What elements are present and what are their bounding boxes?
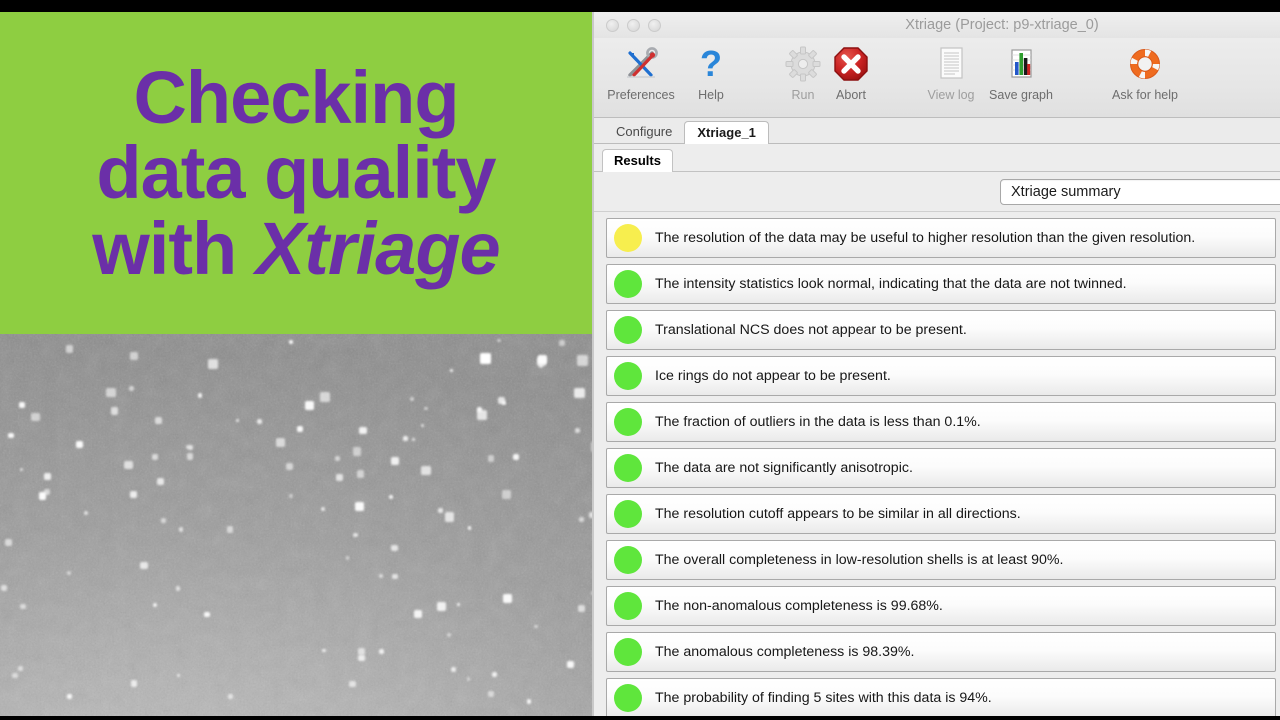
screenshot-stage: Checking data quality with Xtriage <box>0 0 1280 720</box>
result-row[interactable]: The non-anomalous completeness is 99.68%… <box>606 586 1276 626</box>
diffraction-spot <box>480 353 491 364</box>
letterbox-top <box>0 0 1280 12</box>
diffraction-spot <box>379 574 384 579</box>
diffraction-spot <box>392 574 398 580</box>
result-text: The intensity statistics look normal, in… <box>655 276 1127 292</box>
bar-chart-icon <box>1001 42 1041 86</box>
status-ok-icon <box>614 362 642 390</box>
result-text: The resolution cutoff appears to be simi… <box>655 506 1021 522</box>
results-list: The resolution of the data may be useful… <box>594 212 1280 720</box>
diffraction-spot <box>379 649 385 655</box>
sub-tabstrip: Results <box>594 144 1280 172</box>
diffraction-spot <box>336 474 343 481</box>
result-text: The non-anomalous completeness is 99.68%… <box>655 598 943 614</box>
diffraction-spot <box>67 694 72 699</box>
diffraction-spot <box>359 427 366 434</box>
diffraction-spot <box>488 455 495 462</box>
diffraction-spot <box>497 339 501 343</box>
diffraction-spot <box>76 441 83 448</box>
ask-for-help-label: Ask for help <box>1112 88 1178 102</box>
diffraction-spot <box>492 672 497 677</box>
diffraction-spot <box>391 457 399 465</box>
diffraction-spot <box>575 428 581 434</box>
abort-button[interactable]: Abort <box>812 42 890 102</box>
diffraction-spot <box>527 699 532 704</box>
window-titlebar: Xtriage (Project: p9-xtriage_0) <box>594 12 1280 38</box>
diffraction-spot <box>447 633 451 637</box>
diffraction-spot <box>467 677 470 680</box>
diffraction-spot <box>153 603 157 607</box>
title-line-1: Checking <box>133 60 458 135</box>
summary-select-value: Xtriage summary <box>1011 184 1121 200</box>
diffraction-spot <box>538 355 547 364</box>
diffraction-spot <box>131 680 138 687</box>
view-log-button[interactable]: View log <box>912 42 990 102</box>
tab-configure[interactable]: Configure <box>604 121 684 143</box>
question-mark-icon: ? <box>691 42 731 86</box>
diffraction-spot <box>457 603 460 606</box>
diffraction-spot <box>346 556 350 560</box>
summary-select[interactable]: Xtriage summary <box>1000 179 1280 205</box>
result-row[interactable]: The probability of finding 5 sites with … <box>606 678 1276 718</box>
diffraction-spot <box>5 539 12 546</box>
result-row[interactable]: The anomalous completeness is 98.39%. <box>606 632 1276 672</box>
save-graph-button[interactable]: Save graph <box>982 42 1060 102</box>
diffraction-spot <box>577 355 588 366</box>
diffraction-spot <box>18 666 23 671</box>
diffraction-spot <box>513 454 519 460</box>
diffraction-spot <box>19 402 25 408</box>
diffraction-spot <box>412 438 416 442</box>
save-graph-label: Save graph <box>989 88 1053 102</box>
diffraction-spot <box>320 392 330 402</box>
diffraction-spot <box>179 527 183 531</box>
diffraction-spot <box>578 605 585 612</box>
diffraction-spot <box>276 438 285 447</box>
diffraction-spot <box>321 507 325 511</box>
ask-for-help-button[interactable]: Ask for help <box>1106 42 1184 102</box>
diffraction-spot <box>129 386 134 391</box>
help-button[interactable]: ? Help <box>672 42 750 102</box>
svg-text:?: ? <box>700 44 722 84</box>
diffraction-spot <box>355 502 364 511</box>
result-text: The probability of finding 5 sites with … <box>655 690 992 706</box>
status-ok-icon <box>614 500 642 528</box>
diffraction-spots <box>0 334 592 720</box>
diffraction-spot <box>539 364 543 368</box>
diffraction-spot <box>389 495 393 499</box>
title-emphasis-xtriage: Xtriage <box>256 207 500 290</box>
diffraction-spot <box>161 518 166 523</box>
status-ok-icon <box>614 408 642 436</box>
diffraction-spot <box>20 468 23 471</box>
status-ok-icon <box>614 454 642 482</box>
toolbar: Preferences ? Help <box>594 38 1280 118</box>
diffraction-spot <box>177 674 180 677</box>
diffraction-spot <box>477 407 482 412</box>
diffraction-spot <box>410 397 414 401</box>
diffraction-spot <box>358 648 366 656</box>
diffraction-spot <box>208 359 218 369</box>
diffraction-spot <box>445 512 455 522</box>
result-row[interactable]: The resolution of the data may be useful… <box>606 218 1276 258</box>
result-row[interactable]: The fraction of outliers in the data is … <box>606 402 1276 442</box>
diffraction-spot <box>353 533 357 537</box>
view-log-label: View log <box>927 88 974 102</box>
diffraction-spot <box>574 388 584 398</box>
diffraction-spot <box>236 419 239 422</box>
diffraction-spot <box>227 526 233 532</box>
result-text: The resolution of the data may be useful… <box>655 230 1195 246</box>
result-row[interactable]: The intensity statistics look normal, in… <box>606 264 1276 304</box>
diffraction-spot <box>424 407 427 410</box>
diffraction-spot <box>451 667 456 672</box>
life-ring-icon <box>1125 42 1165 86</box>
diffraction-spot <box>140 562 148 570</box>
result-row[interactable]: The data are not significantly anisotrop… <box>606 448 1276 488</box>
diffraction-spot <box>468 526 472 530</box>
title-line-2: data quality <box>96 135 495 210</box>
diffraction-spot <box>187 453 194 460</box>
diffraction-image <box>0 334 592 720</box>
status-ok-icon <box>614 546 642 574</box>
status-warning-icon <box>614 224 642 252</box>
diffraction-spot <box>503 594 512 603</box>
diffraction-spot <box>106 388 115 397</box>
diffraction-spot <box>124 461 132 469</box>
diffraction-spot <box>297 426 303 432</box>
result-row[interactable]: Translational NCS does not appear to be … <box>606 310 1276 350</box>
xtriage-window: Xtriage (Project: p9-xtriage_0) <box>592 12 1280 720</box>
diffraction-spot <box>44 473 51 480</box>
diffraction-spot <box>8 433 13 438</box>
diffraction-spot <box>391 545 398 552</box>
diffraction-spot <box>66 345 73 352</box>
stop-octagon-icon <box>831 42 871 86</box>
status-ok-icon <box>614 316 642 344</box>
preferences-label: Preferences <box>607 88 674 102</box>
result-text: The fraction of outliers in the data is … <box>655 414 981 430</box>
title-card: Checking data quality with Xtriage <box>0 12 592 334</box>
title-line-3-prefix: with <box>92 207 256 290</box>
diffraction-spot <box>488 691 494 697</box>
diffraction-spot <box>421 466 431 476</box>
diffraction-spot <box>358 655 365 662</box>
result-row[interactable]: The overall completeness in low-resoluti… <box>606 540 1276 580</box>
result-row[interactable]: Ice rings do not appear to be present. <box>606 356 1276 396</box>
diffraction-spot <box>130 491 137 498</box>
preferences-button[interactable]: Preferences <box>602 42 680 102</box>
result-text: The data are not significantly anisotrop… <box>655 460 913 476</box>
diffraction-spot <box>289 494 294 499</box>
title-line-3: with Xtriage <box>92 211 499 286</box>
diffraction-spot <box>157 478 164 485</box>
diffraction-spot <box>1 585 7 591</box>
result-text: The anomalous completeness is 98.39%. <box>655 644 914 660</box>
status-ok-icon <box>614 638 642 666</box>
diffraction-spot <box>176 586 180 590</box>
diffraction-spot <box>289 340 293 344</box>
letterbox-bottom <box>0 716 1280 720</box>
diffraction-spot <box>67 571 71 575</box>
diffraction-spot <box>438 508 444 514</box>
result-text: Ice rings do not appear to be present. <box>655 368 891 384</box>
diffraction-spot <box>322 649 326 653</box>
diffraction-spot <box>502 490 511 499</box>
diffraction-spot <box>414 610 422 618</box>
diffraction-spot <box>450 369 453 372</box>
diffraction-spot <box>12 673 18 679</box>
summary-selector-row: Xtriage summary <box>594 172 1280 212</box>
diffraction-spot <box>403 436 408 441</box>
tools-icon <box>621 42 661 86</box>
diffraction-spot <box>534 625 538 629</box>
status-ok-icon <box>614 684 642 712</box>
diffraction-spot <box>84 511 89 516</box>
diffraction-spot <box>228 694 234 700</box>
diffraction-spot <box>567 661 574 668</box>
diffraction-spot <box>111 407 119 415</box>
slide-panel: Checking data quality with Xtriage <box>0 12 592 720</box>
result-text: Translational NCS does not appear to be … <box>655 322 967 338</box>
diffraction-spot <box>559 340 565 346</box>
diffraction-spot <box>421 424 424 427</box>
diffraction-spot <box>286 463 293 470</box>
diffraction-spot <box>20 604 25 609</box>
diffraction-spot <box>39 492 47 500</box>
tab-results[interactable]: Results <box>602 149 673 172</box>
main-tabstrip: Configure Xtriage_1 <box>594 118 1280 144</box>
diffraction-spot <box>204 612 210 618</box>
diffraction-spot <box>349 681 356 688</box>
diffraction-spot <box>130 352 138 360</box>
diffraction-spot <box>257 419 262 424</box>
tab-xtriage-1[interactable]: Xtriage_1 <box>684 121 769 144</box>
diffraction-spot <box>353 447 362 456</box>
result-text: The overall completeness in low-resoluti… <box>655 552 1063 568</box>
document-icon <box>931 42 971 86</box>
diffraction-spot <box>357 470 365 478</box>
diffraction-spot <box>579 517 584 522</box>
diffraction-spot <box>155 417 162 424</box>
diffraction-spot <box>437 602 446 611</box>
diffraction-spot <box>198 393 203 398</box>
status-ok-icon <box>614 592 642 620</box>
abort-label: Abort <box>836 88 866 102</box>
result-row[interactable]: The resolution cutoff appears to be simi… <box>606 494 1276 534</box>
diffraction-spot <box>305 401 314 410</box>
help-label: Help <box>698 88 724 102</box>
diffraction-spot <box>502 401 506 405</box>
diffraction-spot <box>335 456 340 461</box>
diffraction-spot <box>152 454 159 461</box>
window-title: Xtriage (Project: p9-xtriage_0) <box>594 17 1280 33</box>
diffraction-spot <box>31 413 40 422</box>
status-ok-icon <box>614 270 642 298</box>
diffraction-spot <box>186 445 189 448</box>
